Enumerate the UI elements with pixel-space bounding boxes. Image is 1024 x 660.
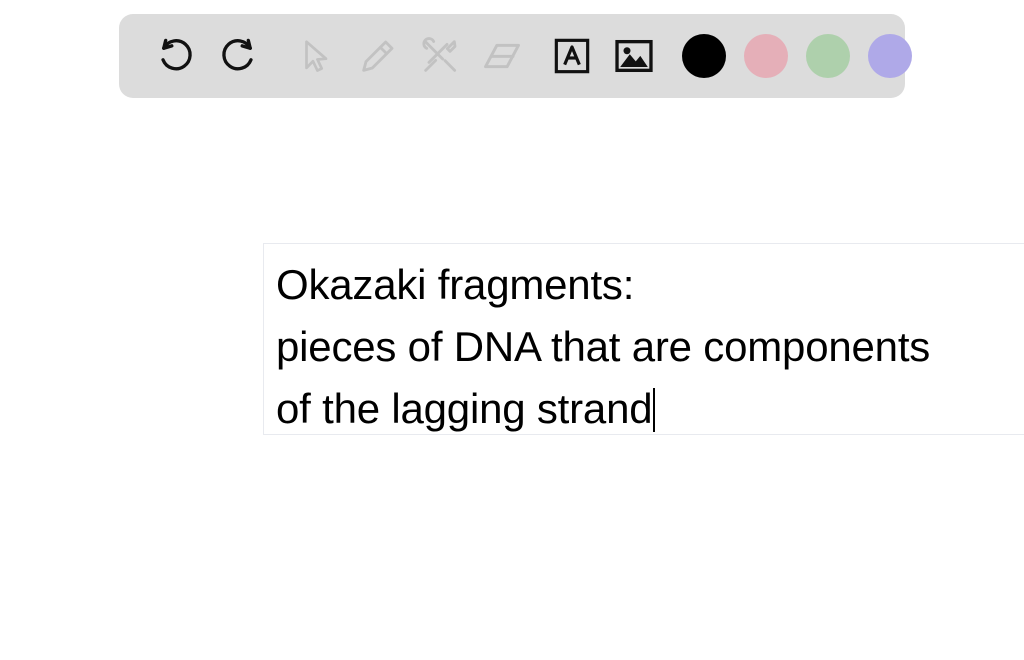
image-tool-button[interactable] bbox=[603, 25, 665, 87]
pencil-button[interactable] bbox=[347, 25, 409, 87]
text-box-content[interactable]: Okazaki fragments: pieces of DNA that ar… bbox=[276, 254, 1024, 435]
text-line-3: of the lagging strand bbox=[276, 385, 652, 432]
image-icon bbox=[613, 35, 655, 77]
color-swatch-black[interactable] bbox=[682, 34, 726, 78]
select-button[interactable] bbox=[285, 25, 347, 87]
swatch-slot-green bbox=[797, 25, 859, 87]
text-icon bbox=[552, 36, 592, 76]
color-swatch-purple[interactable] bbox=[868, 34, 912, 78]
swatch-slot-pink bbox=[735, 25, 797, 87]
swatch-slot-purple bbox=[859, 25, 921, 87]
color-swatch-pink[interactable] bbox=[744, 34, 788, 78]
canvas-text-box[interactable]: Okazaki fragments: pieces of DNA that ar… bbox=[263, 243, 1024, 435]
tools-button[interactable] bbox=[409, 25, 471, 87]
redo-button[interactable] bbox=[207, 25, 269, 87]
undo-icon bbox=[155, 35, 197, 77]
undo-button[interactable] bbox=[145, 25, 207, 87]
select-icon bbox=[297, 37, 335, 75]
text-line-1: Okazaki fragments: bbox=[276, 261, 634, 308]
eraser-button[interactable] bbox=[471, 25, 533, 87]
redo-icon bbox=[217, 35, 259, 77]
eraser-icon bbox=[480, 34, 524, 78]
toolbar bbox=[119, 14, 905, 98]
text-tool-button[interactable] bbox=[541, 25, 603, 87]
text-caret bbox=[653, 388, 655, 432]
swatch-slot-black bbox=[673, 25, 735, 87]
color-swatch-green[interactable] bbox=[806, 34, 850, 78]
tools-icon bbox=[420, 36, 460, 76]
pencil-icon bbox=[358, 36, 398, 76]
text-line-2: pieces of DNA that are components bbox=[276, 323, 930, 370]
